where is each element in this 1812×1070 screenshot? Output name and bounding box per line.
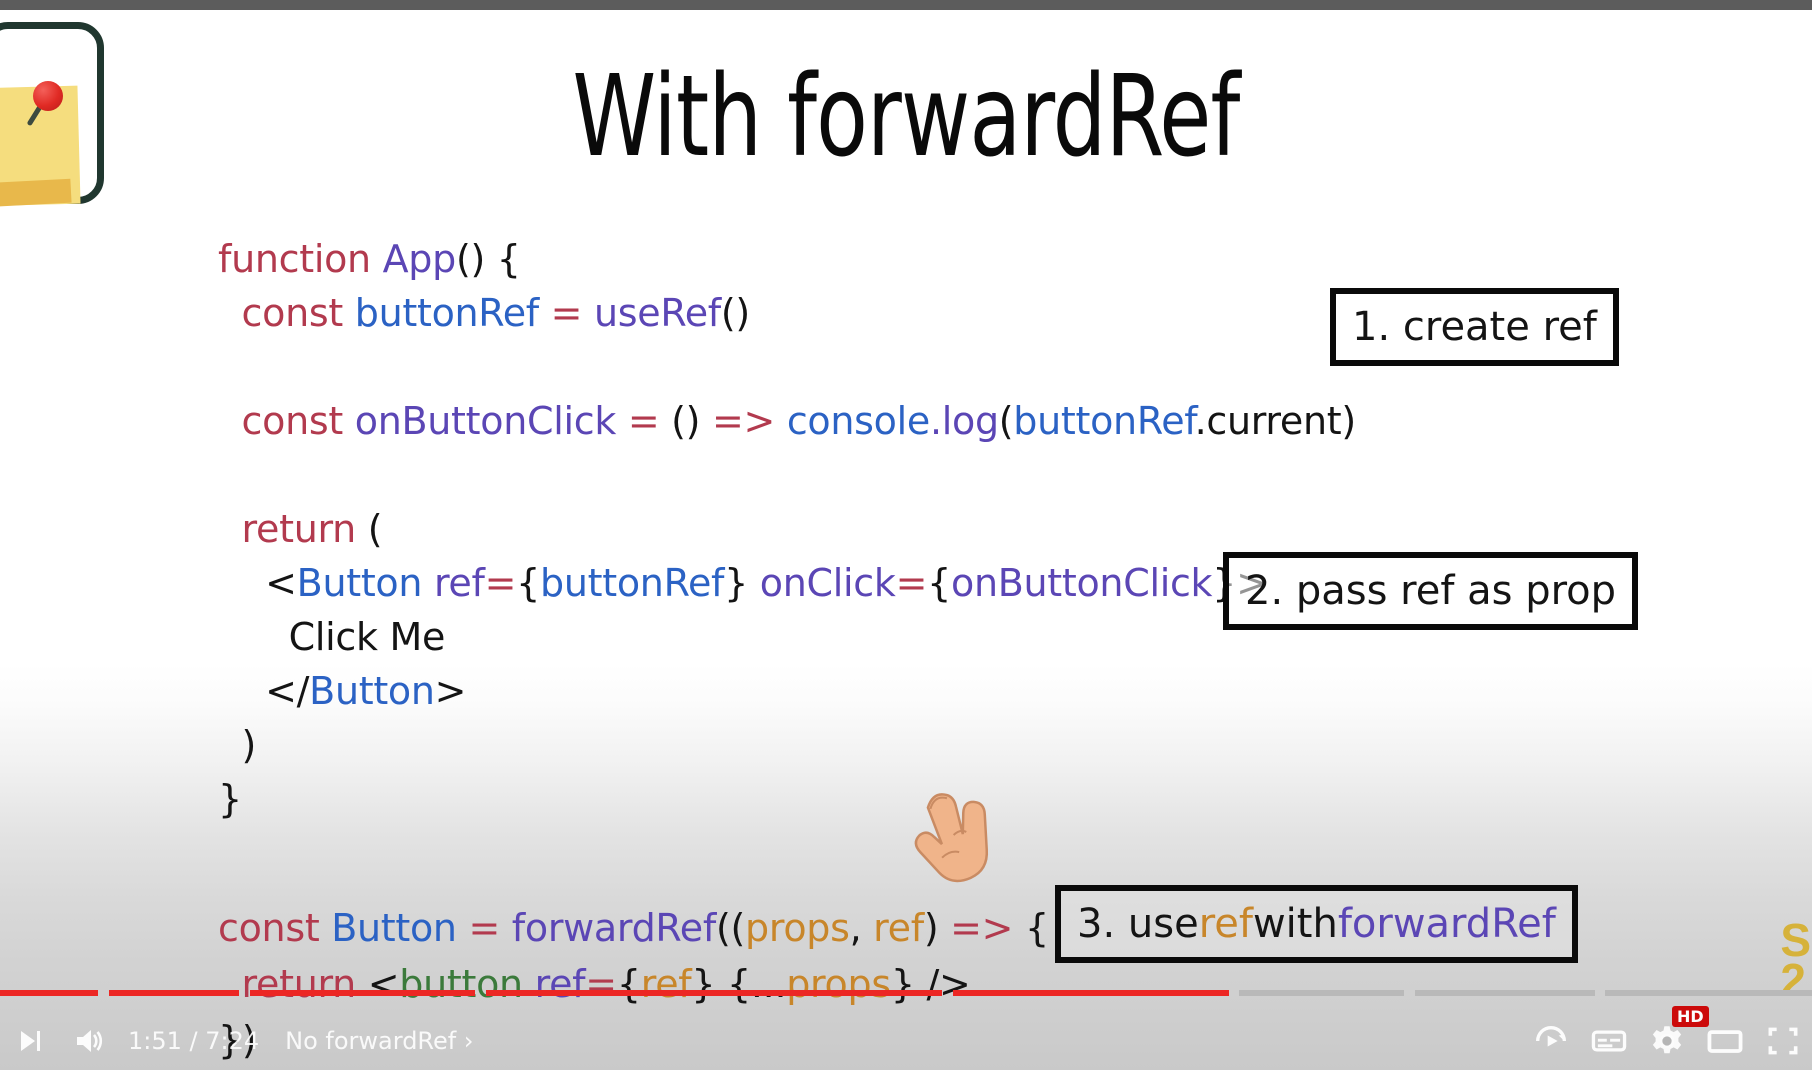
code-token: () (671, 399, 712, 443)
chapter-title-text: No forwardRef (285, 1027, 456, 1055)
code-token: ) (218, 723, 256, 767)
sticky-note-pin-icon (0, 22, 104, 204)
code-token: ref (873, 906, 924, 950)
progress-chapter-fill (109, 990, 239, 996)
progress-chapter-segment[interactable] (250, 990, 475, 996)
code-token: buttonRef (1013, 399, 1194, 443)
code-token: onButtonClick (355, 399, 628, 443)
code-token: forwardRef (512, 906, 716, 950)
code-token: function (218, 237, 383, 281)
code-token: const (218, 906, 331, 950)
code-token: Button (309, 669, 435, 713)
slide-title: With forwardRef (145, 52, 1667, 182)
code-token: const (218, 399, 355, 443)
annotation-text: 1. create ref (1352, 304, 1597, 350)
pointing-hand-icon (898, 780, 1018, 905)
code-token: < (218, 561, 297, 605)
subtitles-button[interactable] (1580, 1012, 1638, 1070)
code-token: onButtonClick (951, 561, 1212, 605)
progress-chapter-segment[interactable] (1605, 990, 1812, 996)
code-line: function App() { (218, 232, 1356, 286)
annotation-box-pass-ref-as-prop: 2. pass ref as prop (1223, 552, 1638, 630)
code-token: = (896, 561, 928, 605)
code-line: <Button ref={buttonRef} onClick={onButto… (218, 556, 1356, 610)
theater-mode-button[interactable] (1696, 1012, 1754, 1070)
code-line: const buttonRef = useRef() (218, 286, 1356, 340)
code-token: buttonRef (355, 291, 551, 335)
code-token: > (435, 669, 467, 713)
code-token: onClick (760, 561, 896, 605)
note-paper-shadow-shape (0, 179, 72, 208)
annotation-text: with (1253, 901, 1338, 947)
code-token: App (383, 237, 456, 281)
code-token: const (218, 291, 355, 335)
annotation-text: ref (1199, 901, 1253, 947)
code-token: return (218, 507, 368, 551)
progress-chapter-segment[interactable] (1415, 990, 1594, 996)
annotation-box-create-ref: 1. create ref (1330, 288, 1619, 366)
code-line: ) (218, 718, 1356, 772)
code-line (218, 340, 1356, 394)
volume-button[interactable] (58, 1012, 116, 1070)
code-token: Button (331, 906, 468, 950)
chapter-arrow-icon: › (464, 1027, 474, 1055)
code-line: } (218, 772, 1356, 826)
progress-chapter-segment[interactable] (486, 990, 943, 996)
code-token: buttonRef (540, 561, 724, 605)
video-player-controls: 1:51 / 7:24 No forwardRef › (0, 990, 1812, 1070)
progress-chapter-fill (250, 990, 475, 996)
progress-chapter-fill (953, 990, 1228, 996)
corner-brand-logo: S2 (1780, 920, 1808, 1000)
code-token: useRef (594, 291, 721, 335)
progress-chapter-fill (486, 990, 943, 996)
control-row: 1:51 / 7:24 No forwardRef › (0, 1012, 1812, 1070)
code-token: } (218, 777, 242, 821)
time-display: 1:51 / 7:24 (128, 1027, 259, 1055)
progress-chapter-segment[interactable] (953, 990, 1228, 996)
next-button[interactable] (0, 1012, 58, 1070)
code-token: ) (924, 906, 950, 950)
settings-button[interactable]: HD (1638, 1012, 1696, 1070)
code-token: = (628, 399, 671, 443)
annotation-text: 2. pass ref as prop (1245, 568, 1616, 614)
code-block-app-component: function App() { const buttonRef = useRe… (218, 232, 1356, 826)
code-line (218, 448, 1356, 502)
code-token: { (516, 561, 540, 605)
code-token: (( (716, 906, 745, 950)
progress-chapter-segment[interactable] (1239, 990, 1404, 996)
code-line: </Button> (218, 664, 1356, 718)
fullscreen-button[interactable] (1754, 1012, 1812, 1070)
code-line: const Button = forwardRef((props, ref) =… (218, 900, 1049, 956)
video-player-stage: With forwardRef function App() { const b… (0, 0, 1812, 1070)
chapter-title[interactable]: No forwardRef › (285, 1027, 473, 1055)
code-line: return ( (218, 502, 1356, 556)
code-token: ( (368, 507, 383, 551)
annotation-text: forwardRef (1338, 901, 1556, 947)
code-token: = (468, 906, 511, 950)
top-letterbox-bar (0, 0, 1812, 10)
code-token: Click Me (218, 615, 445, 659)
code-token: </ (218, 669, 309, 713)
code-token: = (485, 561, 517, 605)
code-token: ( (999, 399, 1014, 443)
code-token: Button (297, 561, 434, 605)
code-token: .log (930, 399, 999, 443)
code-token: => (712, 399, 787, 443)
code-token: .current) (1195, 399, 1356, 443)
annotation-text: 3. use (1077, 901, 1199, 947)
progress-chapter-fill (0, 990, 98, 996)
code-token: () (721, 291, 750, 335)
code-token: { (927, 561, 951, 605)
code-line: Click Me (218, 610, 1356, 664)
code-token: () { (456, 237, 521, 281)
code-line: const onButtonClick = () => console.log(… (218, 394, 1356, 448)
autoplay-button[interactable] (1522, 1012, 1580, 1070)
code-token: props (745, 906, 850, 950)
progress-chapter-segment[interactable] (0, 990, 98, 996)
code-token: } (724, 561, 760, 605)
code-token: , (850, 906, 874, 950)
pin-head-shape (33, 81, 63, 111)
code-token: = (551, 291, 594, 335)
annotation-box-use-ref-with-forwardref: 3. use ref with forwardRef (1055, 885, 1578, 963)
code-token: => (950, 906, 1025, 950)
progress-chapter-segment[interactable] (109, 990, 239, 996)
progress-bar[interactable] (0, 990, 1812, 996)
code-token: { (1025, 906, 1049, 950)
code-token: ref (434, 561, 485, 605)
code-token: console (787, 399, 930, 443)
